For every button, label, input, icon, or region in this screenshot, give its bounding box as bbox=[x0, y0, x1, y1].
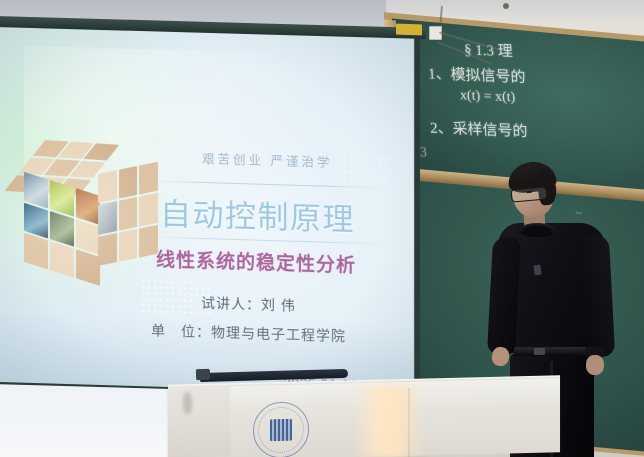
slide-affiliation: 单 位：物理与电子工程学院 bbox=[151, 320, 346, 346]
ceiling-fixture bbox=[503, 3, 509, 9]
screen-roller-cap bbox=[396, 24, 422, 36]
presenter-collar bbox=[520, 223, 554, 237]
slide-title: 自动控制原理 bbox=[160, 189, 355, 240]
classroom-photo: § 1.3 理 1、模拟信号的 x(t) = x(t) 2、采样信号的 3 ~ bbox=[0, 0, 644, 457]
presenter-right-hand bbox=[586, 355, 604, 375]
sweater-logo bbox=[533, 265, 541, 276]
presenter-belt bbox=[514, 347, 588, 356]
cube-front-face bbox=[24, 172, 100, 286]
podium-seam bbox=[408, 388, 410, 457]
podium-smudge bbox=[183, 392, 192, 414]
chalk-line-2: 1、模拟信号的 bbox=[428, 62, 526, 87]
projection-screen: 艰苦创业 严谨治学 自动控制原理 线性系统的稳定性分析 试讲人：刘 伟 单 位：… bbox=[0, 24, 414, 395]
university-seal-core bbox=[270, 419, 292, 442]
chalk-line-3: x(t) = x(t) bbox=[460, 88, 516, 106]
slide-dot-pattern-left bbox=[140, 278, 210, 316]
podium-left-face bbox=[168, 385, 230, 457]
slide-presenter: 试讲人：刘 伟 bbox=[201, 293, 296, 316]
university-seal bbox=[253, 401, 309, 457]
rubiks-cube-graphic bbox=[8, 142, 158, 296]
chalk-line-4: 2、采样信号的 bbox=[430, 117, 528, 142]
laser-pointer-cap bbox=[196, 369, 210, 380]
presenter-right-arm bbox=[579, 234, 615, 357]
presenter-left-hand bbox=[491, 346, 510, 367]
chalk-line-5: 3 bbox=[420, 145, 428, 161]
presenter-belt-buckle bbox=[534, 348, 545, 355]
cube-side-face bbox=[98, 162, 158, 266]
slide-subtitle: 线性系统的稳定性分析 bbox=[156, 245, 356, 278]
slide-motto: 艰苦创业 严谨治学 bbox=[202, 148, 332, 171]
